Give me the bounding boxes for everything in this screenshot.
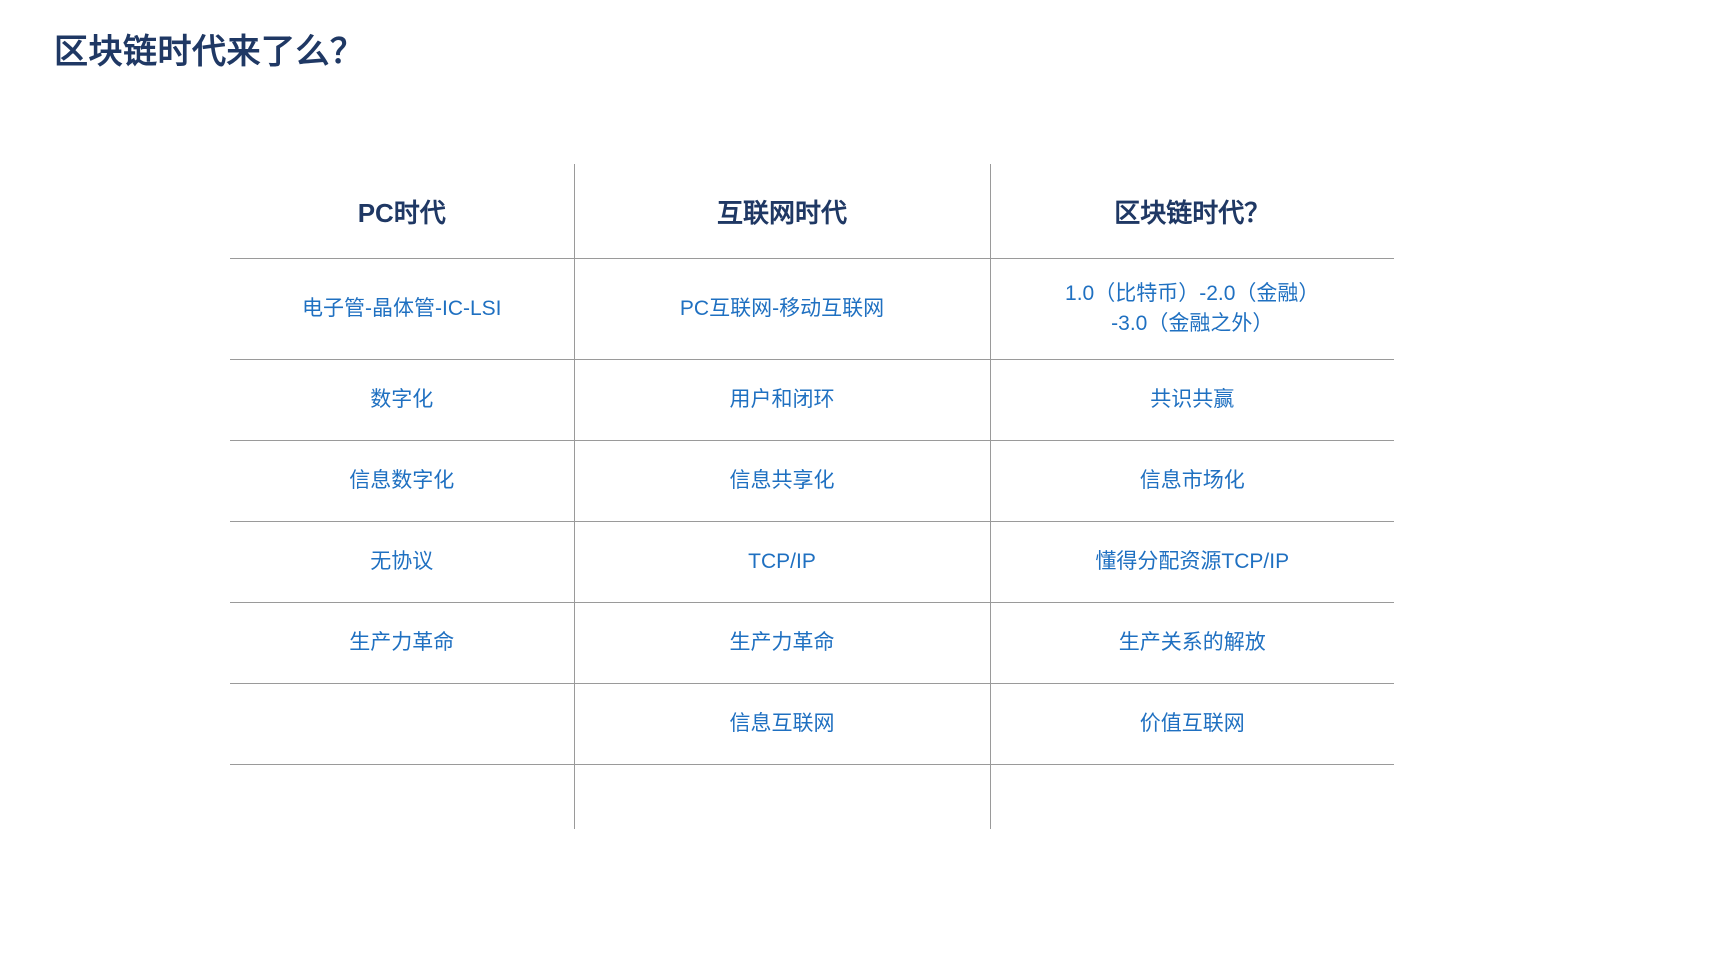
table-row: 生产力革命 生产力革命 生产关系的解放 (230, 603, 1394, 684)
table-row: 电子管-晶体管-IC-LSI PC互联网-移动互联网 1.0（比特币）-2.0（… (230, 259, 1394, 360)
table-cell: TCP/IP (574, 522, 990, 603)
table-cell: 信息共享化 (574, 441, 990, 522)
table-cell: 共识共赢 (990, 360, 1394, 441)
table-cell: 生产力革命 (574, 603, 990, 684)
table-cell: 信息数字化 (230, 441, 574, 522)
table-cell: 电子管-晶体管-IC-LSI (230, 259, 574, 360)
table-cell: 用户和闭环 (574, 360, 990, 441)
comparison-table: PC时代 互联网时代 区块链时代？ 电子管-晶体管-IC-LSI PC互联网-移… (230, 164, 1394, 829)
table-cell (990, 765, 1394, 830)
table-header: PC时代 互联网时代 区块链时代？ (230, 164, 1394, 259)
table-cell: 生产关系的解放 (990, 603, 1394, 684)
table-row: 数字化 用户和闭环 共识共赢 (230, 360, 1394, 441)
column-header-pc-era: PC时代 (230, 164, 574, 259)
table-cell (230, 765, 574, 830)
table-cell: 信息市场化 (990, 441, 1394, 522)
table-cell: 1.0（比特币）-2.0（金融） -3.0（金融之外） (990, 259, 1394, 360)
table-cell: 无协议 (230, 522, 574, 603)
column-header-internet-era: 互联网时代 (574, 164, 990, 259)
column-header-blockchain-era: 区块链时代？ (990, 164, 1394, 259)
slide-canvas: 区块链时代来了么？ PC时代 互联网时代 区块链时代？ 电子管-晶体管-IC-L… (0, 0, 1728, 972)
table-cell: 价值互联网 (990, 684, 1394, 765)
table-cell: 生产力革命 (230, 603, 574, 684)
table-cell: PC互联网-移动互联网 (574, 259, 990, 360)
table-cell: 数字化 (230, 360, 574, 441)
table-body: 电子管-晶体管-IC-LSI PC互联网-移动互联网 1.0（比特币）-2.0（… (230, 259, 1394, 830)
table-cell (574, 765, 990, 830)
table-cell: 信息互联网 (574, 684, 990, 765)
table-row (230, 765, 1394, 830)
table-row: 无协议 TCP/IP 懂得分配资源TCP/IP (230, 522, 1394, 603)
table-row: 信息互联网 价值互联网 (230, 684, 1394, 765)
page-title: 区块链时代来了么？ (54, 24, 365, 73)
table-cell: 懂得分配资源TCP/IP (990, 522, 1394, 603)
table-header-row: PC时代 互联网时代 区块链时代？ (230, 164, 1394, 259)
table-row: 信息数字化 信息共享化 信息市场化 (230, 441, 1394, 522)
table-cell (230, 684, 574, 765)
